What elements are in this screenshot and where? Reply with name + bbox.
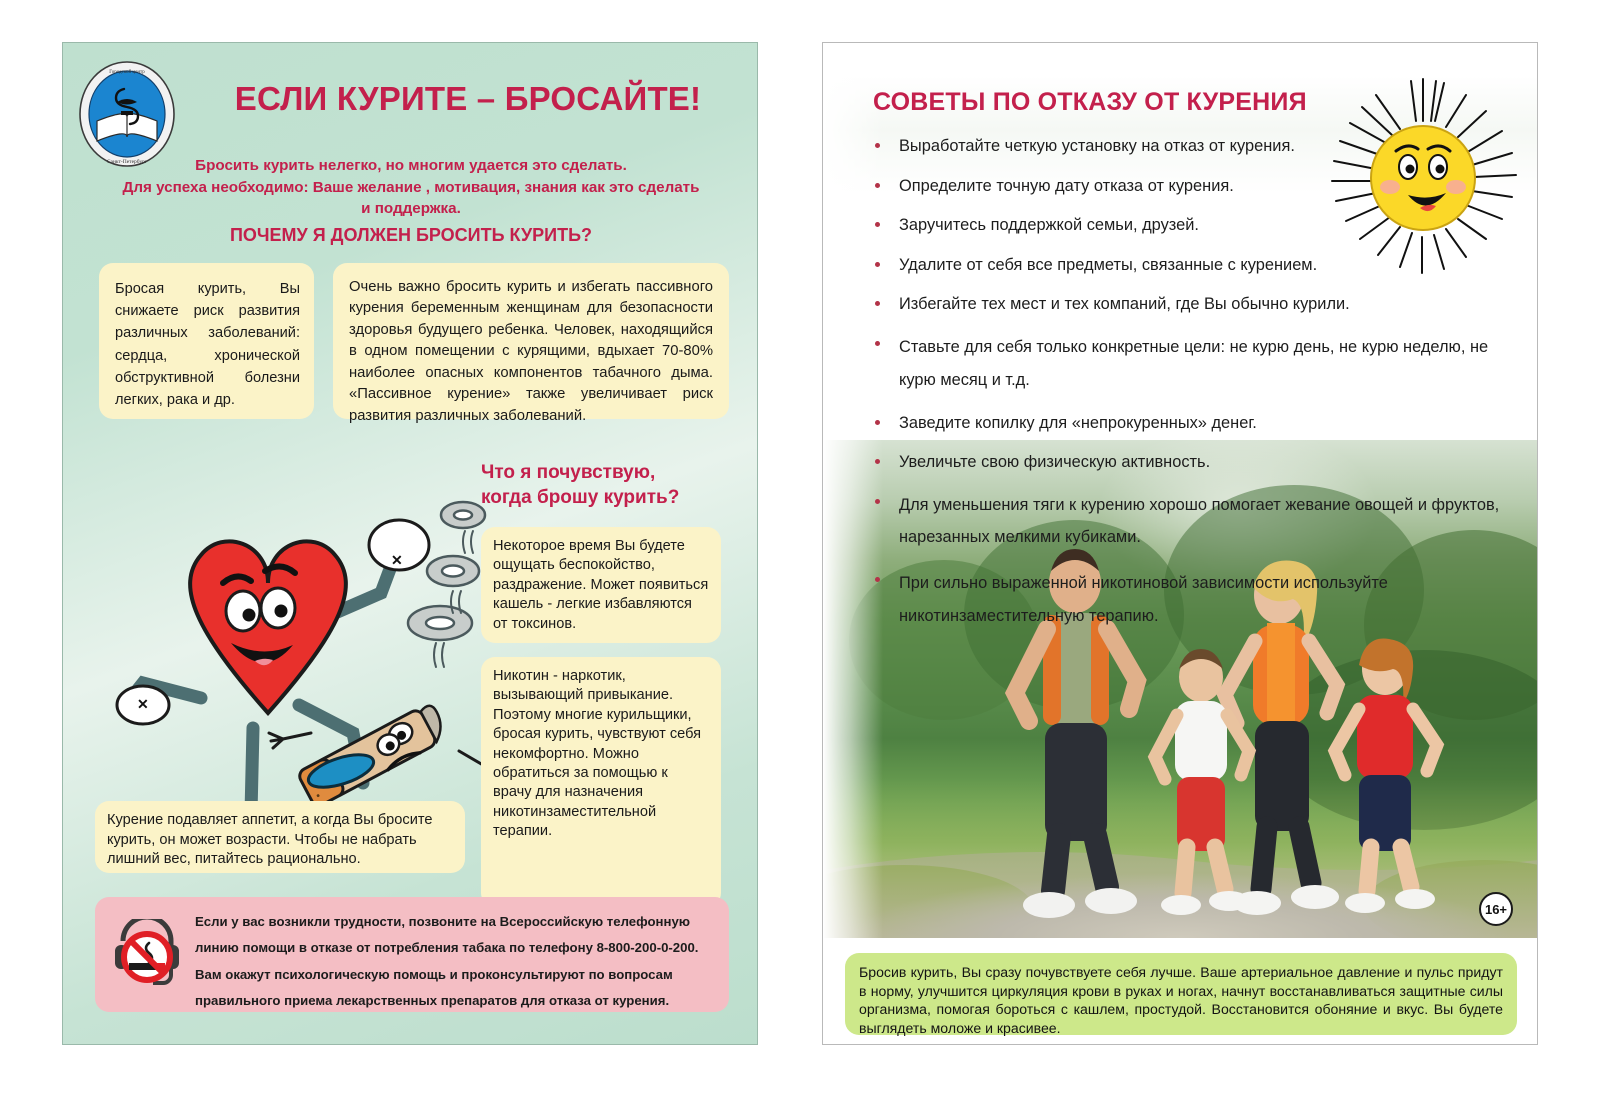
hotline-callout: Если у вас возникли трудности, позвоните… bbox=[95, 897, 729, 1012]
list-item-text: Заведите копилку для «непрокуренных» ден… bbox=[899, 414, 1257, 432]
list-item: Ставьте для себя только конкретные цели:… bbox=[865, 331, 1505, 397]
list-item: При сильно выраженной никотиновой зависи… bbox=[865, 567, 1505, 633]
bullet-dot-icon bbox=[875, 183, 880, 188]
svg-text:✕: ✕ bbox=[137, 696, 149, 712]
list-item-text: Избегайте тех мест и тех компаний, где В… bbox=[899, 295, 1350, 313]
list-item-text: Для уменьшения тяги к курению хорошо пом… bbox=[899, 496, 1499, 547]
bullet-dot-icon bbox=[875, 459, 880, 464]
list-item: Определите точную дату отказа от курения… bbox=[865, 173, 1505, 200]
info-box-passive-smoking: Очень важно бросить курить и избегать па… bbox=[333, 263, 729, 419]
age-rating-badge: 16+ bbox=[1479, 892, 1513, 926]
list-item-text: Определите точную дату отказа от курения… bbox=[899, 177, 1234, 195]
no-smoking-headset-icon bbox=[109, 919, 185, 993]
list-item: Избегайте тех мест и тех компаний, где В… bbox=[865, 291, 1505, 318]
list-item: Выработайте четкую установку на отказ от… bbox=[865, 133, 1505, 160]
list-item: Удалите от себя все предметы, связанные … bbox=[865, 252, 1505, 279]
bullet-dot-icon bbox=[875, 499, 880, 504]
bullet-dot-icon bbox=[875, 301, 880, 306]
runner-child-boy bbox=[1141, 643, 1276, 943]
right-leaflet-panel: СОВЕТЫ ПО ОТКАЗУ ОТ КУРЕНИЯ Выработайте … bbox=[822, 42, 1538, 1045]
section-heading-why-quit: ПОЧЕМУ Я ДОЛЖЕН БРОСИТЬ КУРИТЬ? bbox=[101, 225, 721, 246]
list-item: Увеличьте свою физическую активность. bbox=[865, 449, 1505, 476]
list-item: Заведите копилку для «непрокуренных» ден… bbox=[865, 410, 1505, 437]
bullet-dot-icon bbox=[875, 341, 880, 346]
bullet-dot-icon bbox=[875, 577, 880, 582]
svg-text:Городской центр: Городской центр bbox=[109, 70, 145, 75]
feel-title-text: Что я почувствую, когда брошу курить? bbox=[481, 462, 679, 508]
list-item-text: Удалите от себя все предметы, связанные … bbox=[899, 256, 1317, 274]
hotline-text: Если у вас возникли трудности, позвоните… bbox=[195, 909, 715, 1015]
list-item-text: Увеличьте свою физическую активность. bbox=[899, 453, 1210, 471]
list-item-text: Выработайте четкую установку на отказ от… bbox=[899, 137, 1295, 155]
tips-list: Выработайте четкую установку на отказ от… bbox=[865, 133, 1505, 646]
bullet-dot-icon bbox=[875, 222, 880, 227]
section-heading-what-will-i-feel: Что я почувствую, когда брошу курить? bbox=[481, 461, 731, 510]
list-item-text: Ставьте для себя только конкретные цели:… bbox=[899, 338, 1488, 389]
page-title: ЕСЛИ КУРИТЕ – БРОСАЙТЕ! bbox=[183, 80, 753, 118]
info-box-nicotine-addiction: Никотин - наркотик, вызывающий привыкани… bbox=[481, 657, 721, 907]
info-box-diseases: Бросая курить, Вы снижаете риск развития… bbox=[99, 263, 314, 419]
list-item-text: Заручитесь поддержкой семьи, друзей. bbox=[899, 216, 1199, 234]
subtitle-line: Бросить курить нелегко, но многим удаетс… bbox=[123, 157, 700, 217]
info-box-withdrawal: Некоторое время Вы будете ощущать беспок… bbox=[481, 527, 721, 643]
subtitle-text: Бросить курить нелегко, но многим удаетс… bbox=[101, 155, 721, 220]
list-item-text: При сильно выраженной никотиновой зависи… bbox=[899, 574, 1388, 625]
info-box-appetite: Курение подавляет аппетит, а когда Вы бр… bbox=[95, 801, 465, 873]
bullet-dot-icon bbox=[875, 262, 880, 267]
list-item: Для уменьшения тяги к курению хорошо пом… bbox=[865, 489, 1505, 555]
section-heading-tips: СОВЕТЫ ПО ОТКАЗУ ОТ КУРЕНИЯ bbox=[873, 88, 1307, 117]
list-item: Заручитесь поддержкой семьи, друзей. bbox=[865, 212, 1505, 239]
runner-child-girl bbox=[1323, 633, 1463, 943]
bullet-dot-icon bbox=[875, 143, 880, 148]
left-leaflet-panel: Городской центр Санкт-Петербург ЕСЛИ КУР… bbox=[62, 42, 758, 1045]
svg-text:✕: ✕ bbox=[391, 552, 403, 568]
bullet-dot-icon bbox=[875, 420, 880, 425]
benefits-callout: Бросив курить, Вы сразу почувствуете себ… bbox=[845, 953, 1517, 1035]
organization-logo-icon: Городской центр Санкт-Петербург bbox=[77, 59, 177, 169]
